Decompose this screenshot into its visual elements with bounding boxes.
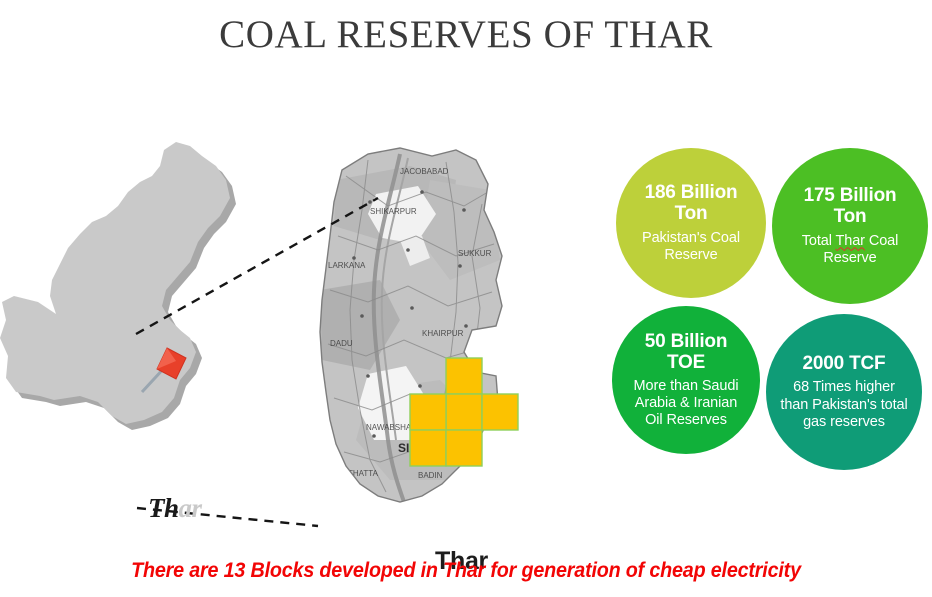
callout-line-top: [136, 198, 378, 334]
stat-desc-prefix: Total: [802, 233, 836, 249]
callout-connector-lines: [0, 120, 600, 550]
thar-pin-label: Thar: [148, 493, 202, 524]
stat-circle-pakistan-coal-reserve[interactable]: 186 Billion Ton Pakistan's Coal Reserve: [616, 148, 766, 298]
stat-circle-gas-equivalent[interactable]: 2000 TCF 68 Times higher than Pakistan's…: [766, 314, 922, 470]
stat-desc-misspelled-word: Thar: [836, 233, 865, 249]
stat-circle-oil-equivalent[interactable]: 50 Billion TOE More than Saudi Arabia & …: [612, 306, 760, 454]
map-illustration: JACOBABAD SHIKARPUR LARKANA SUKKUR KHAIR…: [0, 120, 600, 550]
stat-description: Pakistan's Coal Reserve: [630, 230, 752, 264]
stat-description: Total Thar Coal Reserve: [786, 233, 914, 267]
page-title: COAL RESERVES OF THAR: [0, 12, 932, 57]
stat-desc-text: Pakistan's Coal Reserve: [642, 230, 740, 263]
statistics-panel: 186 Billion Ton Pakistan's Coal Reserve …: [606, 146, 932, 476]
stat-value: 175 Billion Ton: [786, 185, 914, 228]
stat-value: 2000 TCF: [803, 353, 886, 374]
stat-description: More than Saudi Arabia & Iranian Oil Res…: [626, 378, 746, 429]
footer-caption: There are 13 Blocks developed in Thar fo…: [28, 559, 904, 583]
stat-desc-text: More than Saudi Arabia & Iranian Oil Res…: [634, 378, 739, 428]
thar-pin-label-visible: Th: [148, 493, 179, 523]
stat-value: 186 Billion Ton: [630, 182, 752, 225]
thar-pin-label-faded: ar: [179, 493, 202, 523]
stat-description: 68 Times higher than Pakistan's total ga…: [780, 379, 908, 430]
stat-circle-thar-coal-reserve[interactable]: 175 Billion Ton Total Thar Coal Reserve: [772, 148, 928, 304]
stat-desc-text: 68 Times higher than Pakistan's total ga…: [780, 379, 907, 429]
stat-value: 50 Billion TOE: [626, 331, 746, 374]
